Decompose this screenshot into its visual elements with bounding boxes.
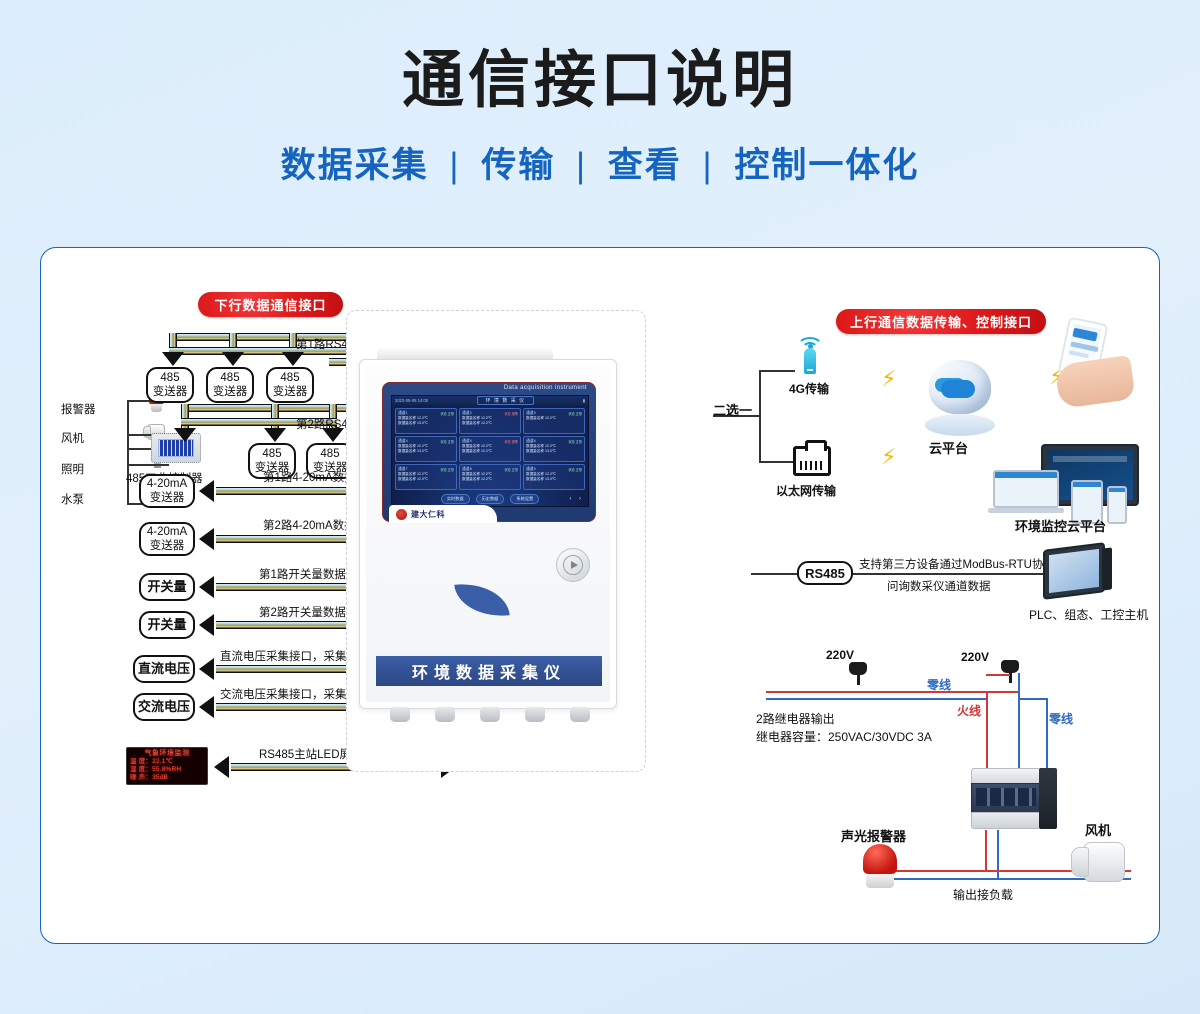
data-acquisition-device: Data acquisition instrument 2023-05-08 1… <box>346 310 646 772</box>
cable-gland <box>480 707 500 722</box>
cloud-monitoring-platform-label: 环境监控云平台 <box>1015 516 1106 535</box>
channel-value-row: 数据量名称 12.2℃ <box>526 416 582 421</box>
node-dc-voltage: 直流电压 <box>133 655 195 683</box>
rs485-line-right <box>853 573 1049 575</box>
channel-value-row: 数据量名称 13.0℃ <box>526 449 582 454</box>
antenna-icon <box>793 336 827 376</box>
channel-value-row: 数据量名称 12.2℃ <box>462 421 518 426</box>
rs485-line-left <box>751 573 799 575</box>
node-485-transmitter: 485 变送器 <box>206 367 254 403</box>
screen-channel-card[interactable]: 通道9状态 正常 数据量名称 12.2℃ 数据量名称 13.0℃ <box>523 464 585 490</box>
channel-status: 状态 正常 <box>440 439 454 444</box>
voltage-label-right: 220V <box>961 650 989 664</box>
screen-button-settings[interactable]: 系统设置 <box>510 494 539 504</box>
screen-channel-card[interactable]: 通道7状态 正常 数据量名称 12.2℃ 数据量名称 12.0℃ <box>395 464 457 490</box>
power-plug-icon <box>849 662 867 684</box>
branch-ethernet <box>759 461 795 463</box>
subtitle-separator: | <box>703 146 714 185</box>
relay-capacity-label: 继电器容量：250VAC/30VDC 3A <box>756 728 932 745</box>
plc-device-label: PLC、组态、工控主机 <box>1029 606 1148 623</box>
node-line-1: 直流电压 <box>138 661 190 677</box>
screen-button-history[interactable]: 历史数据 <box>476 494 505 504</box>
device-screen[interactable]: 2023-05-08 14:00 环 境 数 采 仪 ▮ 通道1状态 正常 数据… <box>391 395 589 507</box>
node-line-2: 变送器 <box>153 385 188 399</box>
channel-value-row: 数据量名称 13.0℃ <box>398 421 454 426</box>
neutral-wire-main <box>766 698 988 700</box>
channel-value-row: 数据量名称 12.2℃ <box>462 449 518 454</box>
rs485-badge: RS485 <box>797 561 853 585</box>
screen-button-realtime[interactable]: 实时数据 <box>441 494 470 504</box>
page-subtitle: 数据采集 | 传输 | 查看 | 控制一体化 <box>0 137 1200 188</box>
node-4-20ma-transmitter: 4-20mA 变送器 <box>139 474 195 508</box>
bus1-arrow-2 <box>222 352 244 366</box>
channel-arrow-left-led <box>214 756 229 778</box>
neutral-wire-label-1: 零线 <box>927 676 951 693</box>
subtitle-part-3: 查看 <box>608 146 682 185</box>
node-line-2: 变送器 <box>213 385 248 399</box>
neutral-wire-label-2: 零线 <box>1049 710 1073 727</box>
node-485-transmitter: 485 变送器 <box>146 367 194 403</box>
node-line-1: 485 <box>320 447 339 461</box>
screen-status-bar: 2023-05-08 14:00 环 境 数 采 仪 ▮ <box>392 396 588 405</box>
brand-name: 建大仁科 <box>411 509 445 520</box>
led-row-noise: 噪 声：35dB <box>130 774 204 782</box>
channel-status: 状态 报警 <box>504 411 518 416</box>
channel-status: 状态 正常 <box>440 467 454 472</box>
device-brand-tab: 建大仁科 <box>389 505 497 523</box>
peripheral-label-fan: 风机 <box>61 430 84 446</box>
led-display-screen: 气象环境监测 温 度：22.1℃ 湿 度：55.8%RH 噪 声：35dB <box>126 747 208 785</box>
alarm-device-label: 声光报警器 <box>841 826 906 845</box>
channel-arrow-left-1 <box>199 480 214 502</box>
fan-device-label: 风机 <box>1085 820 1111 839</box>
screen-footer: 实时数据 历史数据 系统设置 ‹ › <box>392 493 588 505</box>
channel-arrow-left-4 <box>199 614 214 636</box>
channel-arrow-left-2 <box>199 528 214 550</box>
subtitle-part-2: 传输 <box>481 146 555 185</box>
screen-channel-card[interactable]: 通道3状态 正常 数据量名称 12.2℃ <box>523 408 585 434</box>
contactor-relay-icon <box>971 768 1057 830</box>
peripheral-bus-branch <box>127 464 169 466</box>
output-load-label: 输出接负载 <box>953 886 1013 903</box>
voltage-label-left: 220V <box>826 648 854 662</box>
channel-arrow-left-6 <box>199 696 214 718</box>
live-wire-label: 火线 <box>957 702 981 719</box>
badge-uplink: 上行通信数据传输、控制接口 <box>836 309 1046 334</box>
screen-channel-card[interactable]: 通道2状态 报警 数据量名称 12.2℃ 数据量名称 12.2℃ <box>459 408 521 434</box>
node-line-1: 开关量 <box>147 579 186 595</box>
cable-gland <box>435 707 455 722</box>
screen-channel-card[interactable]: 通道8状态 正常 数据量名称 12.2℃ 数据量名称 12.2℃ <box>459 464 521 490</box>
channel-status: 状态 正常 <box>568 467 582 472</box>
node-line-1: 4-20mA <box>147 525 187 539</box>
subtitle-part-1: 数据采集 <box>281 146 429 185</box>
screen-channel-card[interactable]: 通道6状态 正常 数据量名称 12.2℃ 数据量名称 13.0℃ <box>523 436 585 462</box>
branch-4g <box>759 370 795 372</box>
screen-channel-card[interactable]: 通道1状态 正常 数据量名称 12.2℃ 数据量名称 13.0℃ <box>395 408 457 434</box>
screen-channel-card[interactable]: 通道5状态 报警 数据量名称 12.2℃ 数据量名称 12.2℃ <box>459 436 521 462</box>
page-title: 通信接口说明 <box>0 46 1200 115</box>
select-one-label: 二选一 <box>713 400 752 419</box>
led-row-humidity: 湿 度：55.8%RH <box>130 766 204 774</box>
channel-arrow-left-3 <box>199 576 214 598</box>
page-header: 通信接口说明 数据采集 | 传输 | 查看 | 控制一体化 <box>0 0 1200 188</box>
brand-logo-icon <box>396 509 407 520</box>
badge-downlink: 下行数据通信接口 <box>198 292 343 317</box>
device-name-plate: 环境数据采集仪 <box>376 656 602 686</box>
channel-status: 状态 正常 <box>568 439 582 444</box>
led-row-temperature: 温 度：22.1℃ <box>130 758 204 766</box>
leaf-logo-icon <box>454 579 509 620</box>
load-live-drop <box>985 830 987 872</box>
transport-label-ethernet: 以太网传输 <box>776 482 836 499</box>
node-line-1: 交流电压 <box>138 699 190 715</box>
node-line-2: 变送器 <box>273 385 308 399</box>
node-digital-io: 开关量 <box>139 573 195 601</box>
subtitle-separator: | <box>449 146 460 185</box>
device-alarm-beacon-icon <box>405 321 495 357</box>
subtitle-separator: | <box>576 146 587 185</box>
device-body: Data acquisition instrument 2023-05-08 1… <box>359 359 617 709</box>
bus1-arrow-1 <box>162 352 184 366</box>
node-digital-io: 开关量 <box>139 611 195 639</box>
node-line-1: 485 <box>280 371 299 385</box>
cloud-platform-label: 云平台 <box>929 438 968 457</box>
cable-gland <box>570 707 590 722</box>
rs485-desc-line-1: 支持第三方设备通过ModBus-RTU协议 <box>859 556 1055 572</box>
screen-channel-grid: 通道1状态 正常 数据量名称 12.2℃ 数据量名称 13.0℃ 通道2状态 报… <box>392 405 588 493</box>
node-line-1: 开关量 <box>147 617 186 633</box>
fan-device-icon <box>1071 840 1129 884</box>
screen-pager-nav[interactable]: ‹ › <box>569 496 584 502</box>
screen-title: 环 境 数 采 仪 <box>477 396 535 405</box>
device-english-label: Data acquisition instrument <box>504 385 587 391</box>
subtitle-part-4: 控制一体化 <box>734 146 919 185</box>
node-line-1: 485 <box>160 371 179 385</box>
screen-channel-card[interactable]: 通道4状态 正常 数据量名称 12.2℃ 数据量名称 13.0℃ <box>395 436 457 462</box>
peripheral-bus-vertical <box>127 400 129 504</box>
rs485-desc-line-2: 问询数采仪通道数据 <box>887 578 991 594</box>
channel-value-row: 数据量名称 13.0℃ <box>526 477 582 482</box>
hmi-panel-icon <box>1043 542 1105 600</box>
node-4-20ma-transmitter: 4-20mA 变送器 <box>139 522 195 556</box>
controller-link-line <box>127 448 153 450</box>
transport-label-4g: 4G传输 <box>789 380 829 397</box>
diagram-card: 下行数据通信接口 上行通信数据传输、控制接口 报警器 风机 照明 水泵 485工… <box>40 247 1160 944</box>
audible-visual-alarm-icon <box>863 844 897 888</box>
channel-arrow-left-5 <box>199 658 214 680</box>
cloud-platform-icon <box>917 356 1003 436</box>
relay-output-title: 2路继电器输出 <box>756 710 835 727</box>
bus1-arrow-3 <box>282 352 304 366</box>
bus2-arrow-1 <box>174 428 196 442</box>
power-plug-icon <box>1001 660 1019 682</box>
peripheral-label-pump: 水泵 <box>61 491 84 507</box>
node-line-2: 变送器 <box>150 539 185 553</box>
live-wire-jog <box>986 674 1010 676</box>
channel-status: 状态 正常 <box>504 467 518 472</box>
device-display-panel: Data acquisition instrument 2023-05-08 1… <box>382 382 596 522</box>
peripheral-label-lighting: 照明 <box>61 461 84 477</box>
play-triangle-icon <box>571 561 578 569</box>
channel-value-row: 数据量名称 12.2℃ <box>462 477 518 482</box>
led-title: 气象环境监测 <box>130 750 204 758</box>
knob-inner-ring <box>563 555 583 575</box>
cable-gland <box>390 707 410 722</box>
channel-status: 状态 正常 <box>568 411 582 416</box>
neutral-wire-jog <box>1018 698 1048 700</box>
diagram-stage: 下行数据通信接口 上行通信数据传输、控制接口 报警器 风机 照明 水泵 485工… <box>41 248 1159 943</box>
neutral-wire-drop <box>1018 673 1020 769</box>
device-cable-glands <box>390 707 590 722</box>
node-line-2: 变送器 <box>150 491 185 505</box>
channel-status: 状态 正常 <box>440 411 454 416</box>
laptop-icon <box>993 470 1059 514</box>
live-wire-drop <box>986 691 988 769</box>
node-line-1: 485 <box>220 371 239 385</box>
node-line-1: 4-20mA <box>147 477 187 491</box>
device-power-knob[interactable] <box>556 548 590 582</box>
node-485-transmitter: 485 变送器 <box>266 367 314 403</box>
bus2-arrow-2 <box>264 428 286 442</box>
select-one-bracket <box>759 370 761 462</box>
channel-value-row: 数据量名称 13.0℃ <box>398 449 454 454</box>
live-wire-main <box>766 691 1018 693</box>
channel-value-row: 数据量名称 12.0℃ <box>398 477 454 482</box>
screen-timestamp: 2023-05-08 14:00 <box>395 398 428 403</box>
cable-gland <box>525 707 545 722</box>
channel-status: 状态 报警 <box>504 439 518 444</box>
node-ac-voltage: 交流电压 <box>133 693 195 721</box>
smartphone-icon <box>1107 486 1127 524</box>
screen-wifi-icon: ▮ <box>583 398 585 403</box>
ethernet-port-icon <box>793 446 831 476</box>
peripheral-label-alarm: 报警器 <box>61 401 96 417</box>
node-line-1: 485 <box>262 447 281 461</box>
neutral-wire-right <box>1046 698 1048 770</box>
